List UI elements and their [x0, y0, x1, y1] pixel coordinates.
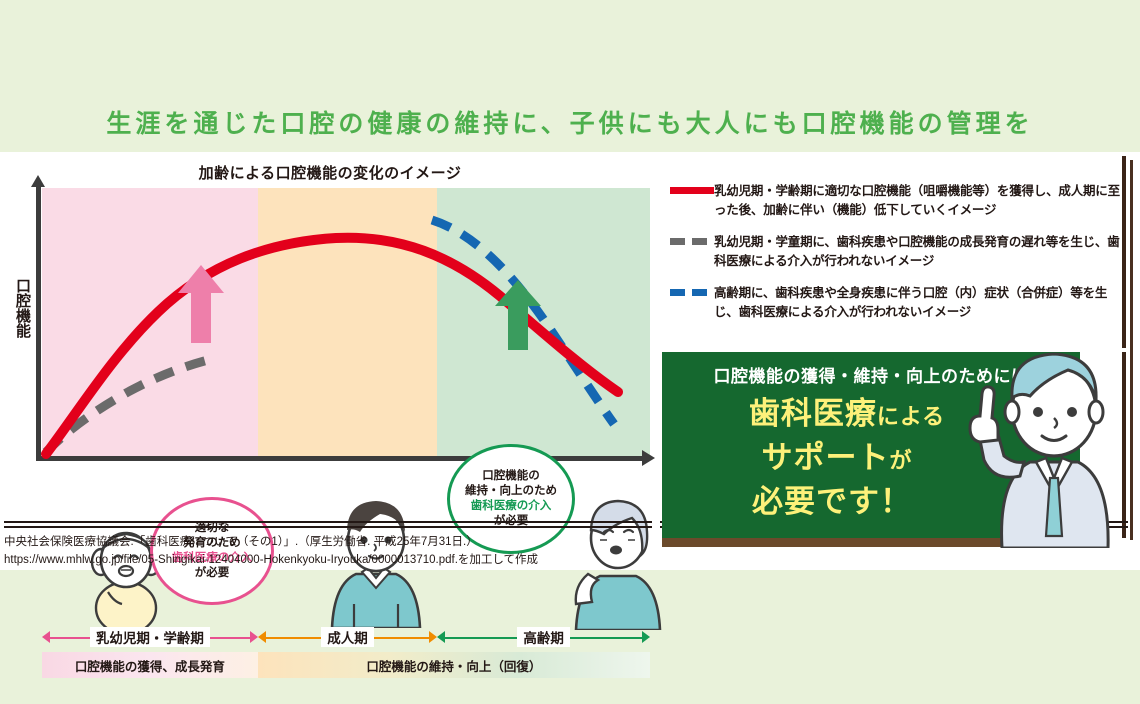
period-childhood-label: 乳幼児期・学齢期 — [90, 627, 210, 647]
stage-band-row: 口腔機能の獲得、成長発育 口腔機能の維持・向上（回復） — [42, 652, 650, 678]
legend-item-blue: 高齢期に、歯科疾患や全身疾患に伴う口腔（内）症状（合併症）等を生じ、歯科医療によ… — [670, 284, 1120, 321]
page-headline: 生涯を通じた口腔の健康の維持に、子供にも大人にも口腔機能の管理を — [0, 104, 1140, 140]
frame-border-right-upper — [1122, 156, 1126, 348]
board-line3-emphasis: サポート — [761, 440, 889, 475]
bubble-elder-highlight: 歯科医療の介入 — [471, 500, 552, 512]
oral-function-chart: 加齢による口腔機能の変化のイメージ 口腔機能 — [0, 160, 660, 520]
legend-item-red: 乳幼児期・学齢期に適切な口腔機能（咀嚼機能等）を獲得し、成人期に至った後、加齢に… — [670, 182, 1120, 219]
curve-gray-dashed — [46, 360, 208, 452]
source-citation: 中央社会保険医療協議会.「歯科医療について（その1）」.（厚生労働省. 平成25… — [4, 533, 684, 570]
pink-up-arrow-icon — [178, 265, 224, 343]
board-line2-suffix: による — [877, 404, 945, 429]
legend-label-gray: 乳幼児期・学童期に、歯科疾患や口腔機能の成長発育の遅れ等を生じ、歯科医療による介… — [714, 233, 1120, 270]
chart-legend: 乳幼児期・学齢期に適切な口腔機能（咀嚼機能等）を獲得し、成人期に至った後、加齢に… — [670, 182, 1120, 335]
chart-curves — [0, 160, 660, 470]
legend-label-red: 乳幼児期・学齢期に適切な口腔機能（咀嚼機能等）を獲得し、成人期に至った後、加齢に… — [714, 182, 1120, 219]
legend-marker-solid-red-line — [670, 182, 714, 219]
legend-item-gray: 乳幼児期・学童期に、歯科疾患や口腔機能の成長発育の遅れ等を生じ、歯科医療による介… — [670, 233, 1120, 270]
bubble-elder-line2: 維持・向上のため — [465, 485, 557, 497]
band-maintenance: 口腔機能の維持・向上（回復） — [258, 652, 650, 678]
citation-line-2: https://www.mhlw.go.jp/file/05-Shingikai… — [4, 551, 684, 569]
divider-line-left-top — [4, 521, 652, 523]
period-childhood: 乳幼児期・学齢期 — [42, 625, 258, 649]
period-adulthood-label: 成人期 — [321, 627, 374, 647]
dentist-character-illustration — [958, 336, 1134, 548]
board-line3-suffix: が — [889, 448, 912, 473]
green-up-arrow-icon — [495, 280, 541, 350]
board-line2-emphasis: 歯科医療 — [749, 396, 877, 431]
period-adulthood: 成人期 — [258, 625, 437, 649]
legend-marker-dashed-blue-line — [670, 284, 714, 321]
legend-marker-dashed-gray-line — [670, 233, 714, 270]
board-line-4: 必要です！ — [662, 476, 1002, 521]
bubble-elder-line1: 口腔機能の — [482, 470, 540, 482]
period-elderly: 高齢期 — [437, 625, 650, 649]
period-elderly-label: 高齢期 — [517, 627, 570, 647]
band-acquisition: 口腔機能の獲得、成長発育 — [42, 652, 258, 678]
divider-line-left-bottom — [4, 526, 652, 528]
period-axis: 乳幼児期・学齢期 成人期 高齢期 — [42, 625, 650, 651]
citation-line-1: 中央社会保険医療協議会.「歯科医療について（その1）」.（厚生労働省. 平成25… — [4, 533, 684, 551]
legend-label-blue: 高齢期に、歯科疾患や全身疾患に伴う口腔（内）症状（合併症）等を生じ、歯科医療によ… — [714, 284, 1120, 321]
